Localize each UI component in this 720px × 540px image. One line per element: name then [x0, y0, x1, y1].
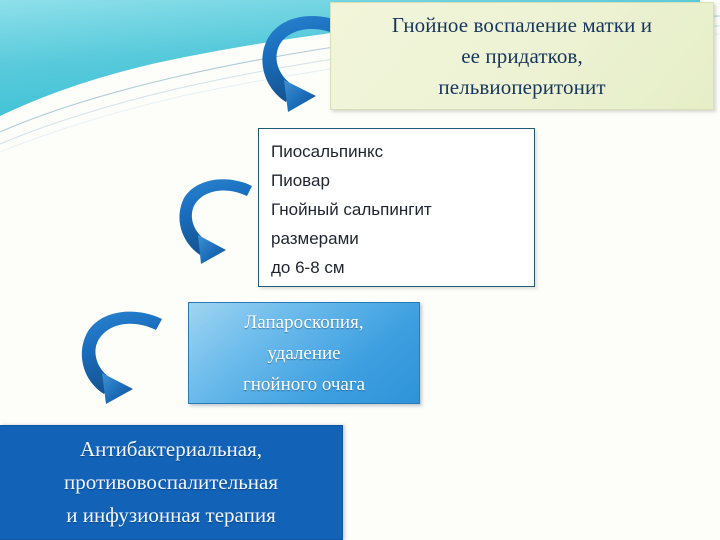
therapy-line: Антибактериальная, [4, 433, 338, 466]
laparoscopy-line: Лапароскопия, [195, 307, 413, 338]
title-line: пельвиоперитонит [341, 72, 703, 103]
laparoscopy-line: удаление [195, 338, 413, 369]
therapy-step-box: Антибактериальная, противовоспалительная… [0, 425, 343, 540]
title-line: Гнойное воспаление матки и [341, 10, 703, 41]
list-item: Пиосальпинкс [271, 137, 534, 166]
curved-arrow-middle [172, 172, 260, 264]
purulent-inflammation-title-box: Гнойное воспаление матки и ее придатков,… [330, 2, 714, 110]
title-line: ее придатков, [341, 41, 703, 72]
list-item: размерами [271, 224, 534, 253]
laparoscopy-step-box: Лапароскопия, удаление гнойного очага [188, 302, 420, 404]
diagnosis-list-box: Пиосальпинкс Пиовар Гнойный сальпингит р… [258, 128, 535, 287]
laparoscopy-line: гнойного очага [195, 369, 413, 400]
list-item: Пиовар [271, 166, 534, 195]
curved-down-right-arrow-icon [172, 172, 260, 264]
therapy-line: противовоспалительная [4, 466, 338, 499]
curved-down-right-arrow-icon [74, 304, 170, 404]
curved-arrow-bottom [74, 304, 170, 404]
therapy-line: и инфузионная терапия [4, 499, 338, 532]
list-item: Гнойный сальпингит [271, 195, 534, 224]
list-item: до 6-8 см [271, 253, 534, 282]
slide-canvas: Гнойное воспаление матки и ее придатков,… [0, 0, 720, 540]
